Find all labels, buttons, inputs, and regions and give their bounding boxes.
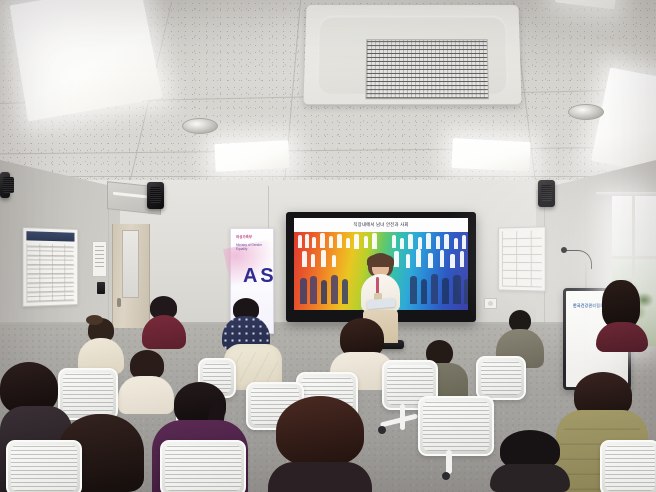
wall-speaker-center bbox=[0, 172, 10, 198]
wall-speaker-left bbox=[147, 182, 164, 209]
attendee-2 bbox=[142, 296, 186, 348]
ceiling-panel-light-2 bbox=[214, 140, 289, 172]
slide-title: 직장내에서 남녀 안전과 사회 bbox=[294, 218, 468, 233]
poster-header-band bbox=[26, 231, 74, 241]
wall-outlet-icon bbox=[484, 298, 497, 309]
poster-rows bbox=[502, 231, 542, 288]
banner-big-letters: A S bbox=[243, 267, 273, 286]
downlight-right-icon bbox=[568, 104, 604, 120]
attendee-frontcenter bbox=[268, 396, 372, 492]
banner-line-1: 여성가족부 bbox=[236, 235, 269, 239]
door-glass-panel bbox=[122, 230, 139, 298]
access-control-panel[interactable] bbox=[97, 282, 105, 294]
ceiling-ac-cassette bbox=[303, 5, 521, 104]
ceiling-seam bbox=[0, 176, 656, 177]
presenter-fringe bbox=[367, 254, 394, 267]
ceiling-panel-light-3 bbox=[451, 138, 530, 172]
poster-table-grid bbox=[26, 243, 74, 302]
wall-notice bbox=[92, 241, 107, 277]
ac-face bbox=[317, 16, 508, 94]
wall-speaker-right bbox=[538, 180, 555, 207]
acoustic-tile-ceiling bbox=[0, 0, 656, 186]
attendee-9 bbox=[596, 280, 648, 352]
door-handle[interactable] bbox=[117, 298, 121, 307]
ac-grille-icon bbox=[365, 39, 489, 99]
downlight-left-icon bbox=[182, 118, 218, 134]
wall-poster-schedule bbox=[22, 227, 78, 307]
presenter-lanyard bbox=[376, 277, 379, 294]
banner-line-2: Ministry of Gender Equality bbox=[236, 243, 269, 251]
wall-poster-right bbox=[498, 226, 546, 291]
microphone-head-icon bbox=[561, 247, 567, 253]
seminar-room-photo: 여성가족부 Ministry of Gender Equality A S 직장… bbox=[0, 0, 656, 492]
attendee-10 bbox=[490, 430, 570, 492]
